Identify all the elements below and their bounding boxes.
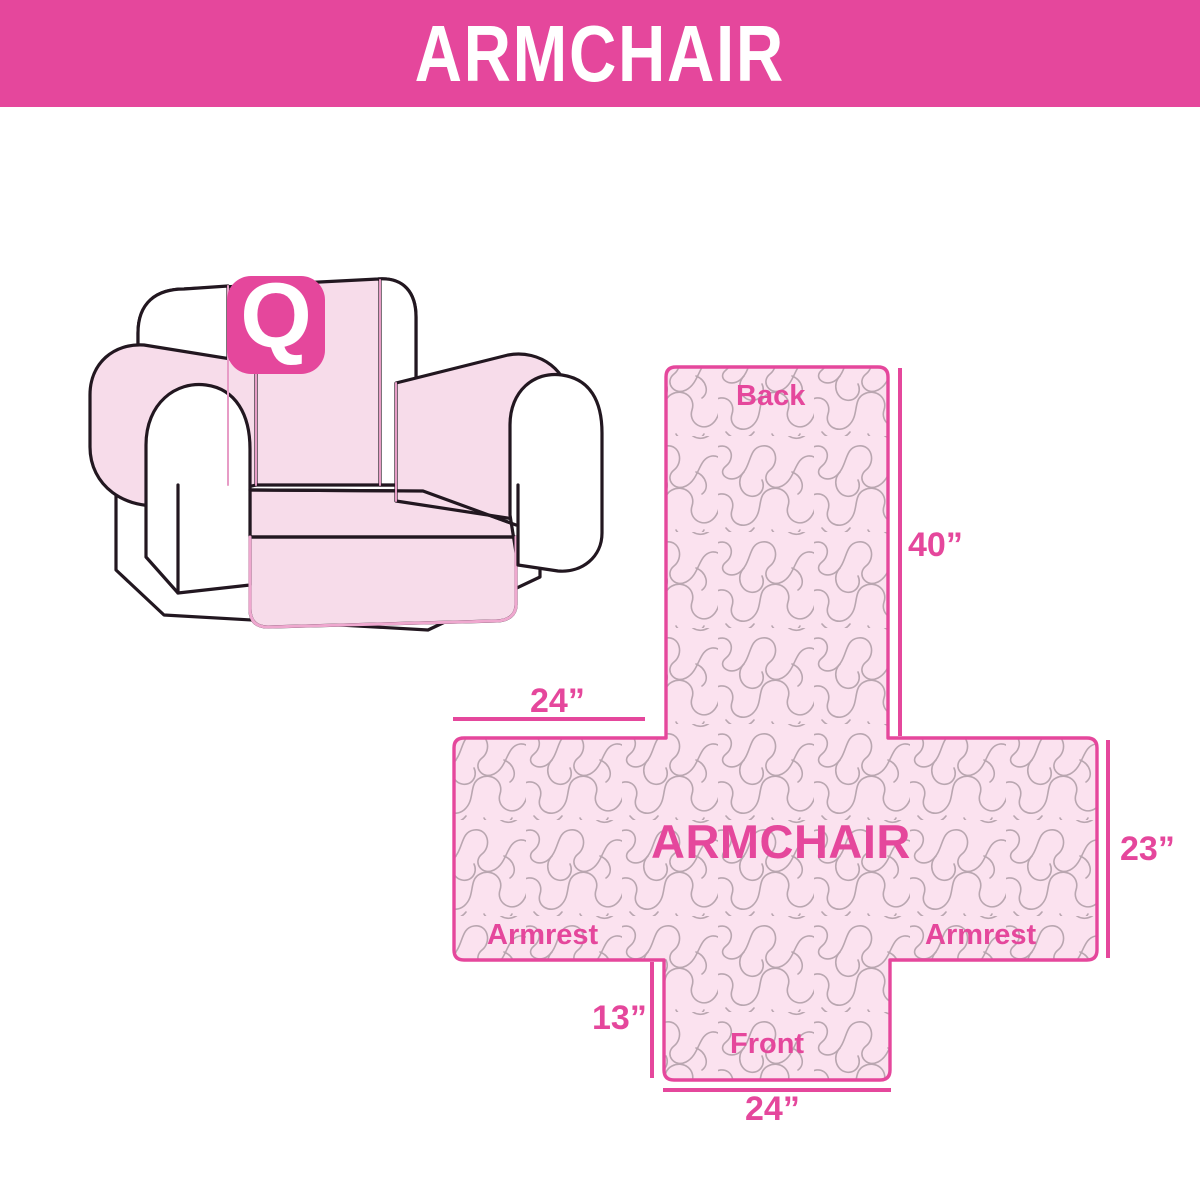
diagram-center-title: ARMCHAIR xyxy=(651,818,911,865)
panel-label-back: Back xyxy=(736,382,805,411)
header-band: ARMCHAIR xyxy=(0,0,1200,107)
dimension-label-back-height: 40” xyxy=(908,528,963,562)
brand-logo: Q xyxy=(227,265,325,374)
page-title: ARMCHAIR xyxy=(415,14,785,94)
panel-label-armrest-right: Armrest xyxy=(925,921,1036,950)
svg-text:Q: Q xyxy=(240,265,312,367)
panel-label-armrest-left: Armrest xyxy=(487,921,598,950)
dimension-label-seat-depth: 23” xyxy=(1120,832,1175,866)
pattern-cross-diagram xyxy=(430,340,1200,1140)
cross-pattern-outline xyxy=(454,367,1097,1080)
dimension-label-armrest-width: 24” xyxy=(530,684,585,718)
dimension-label-front-width: 24” xyxy=(745,1092,800,1126)
panel-label-front: Front xyxy=(730,1030,804,1059)
size-guide-page: ARMCHAIR xyxy=(0,0,1200,1200)
dimension-label-front-drop: 13” xyxy=(592,1001,647,1035)
